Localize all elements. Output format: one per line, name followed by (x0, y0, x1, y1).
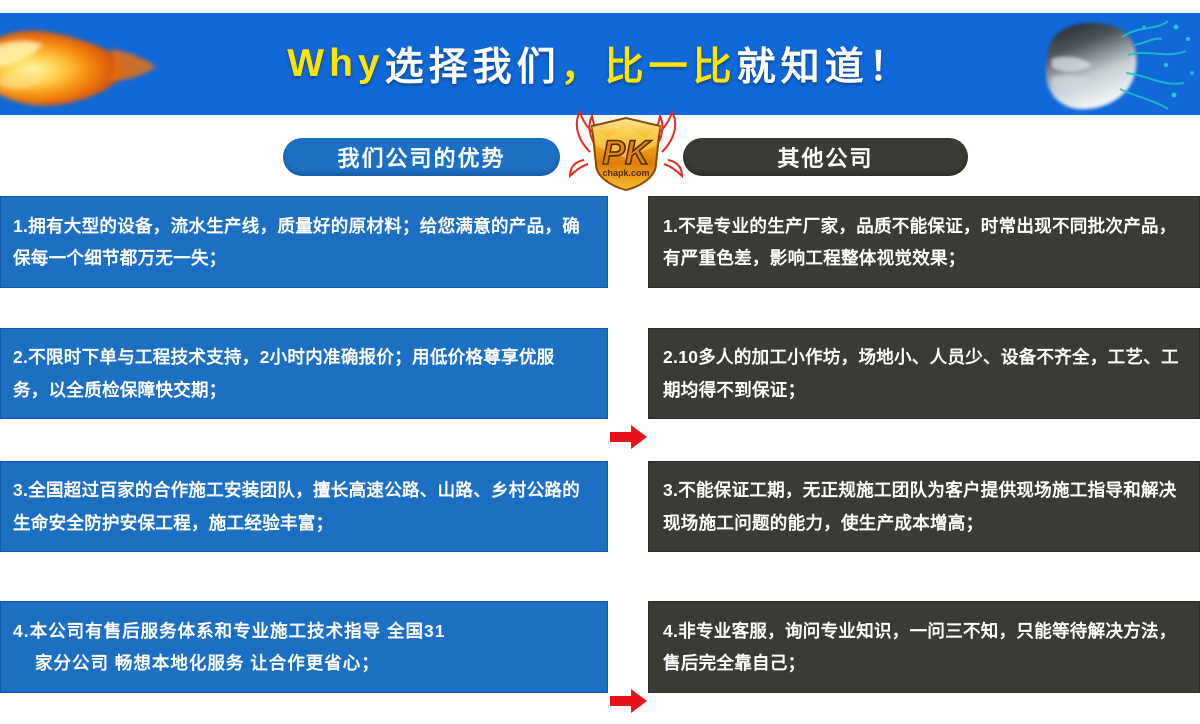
title-part-know: 就知道！ (737, 36, 913, 92)
row-4-ours-panel: 4.本公司有售后服务体系和专业施工技术指导 全国31 家分公司 畅想本地化服务 … (0, 601, 608, 693)
row-4-ours-text: 4.本公司有售后服务体系和专业施工技术指导 全国31 家分公司 畅想本地化服务 … (13, 615, 445, 680)
row-3-ours-text: 3.全国超过百家的合作施工安装团队，擅长高速公路、山路、乡村公路的生命安全防护安… (13, 474, 589, 539)
row-4-other-text: 4.非专业客服，询问专业知识，一问三不知，只能等待解决方法，售后完全靠自己； (663, 615, 1185, 680)
title-part-compare: 比一比 (605, 36, 737, 92)
title-part-choose: 选择我们 (385, 36, 561, 92)
table-row: 2.不限时下单与工程技术支持，2小时内准确报价；用低价格尊享优服务，以全质检保障… (0, 328, 1200, 419)
comparison-infographic-page: Why选择我们，比一比就知道！ 我们公司的优势 其他公司 (0, 0, 1200, 724)
pk-logo-graphic: PK chapk.com (568, 106, 684, 194)
row-2-ours-text: 2.不限时下单与工程技术支持，2小时内准确报价；用低价格尊享优服务，以全质检保障… (13, 341, 589, 406)
row-3-ours-panel: 3.全国超过百家的合作施工安装团队，擅长高速公路、山路、乡村公路的生命安全防护安… (0, 461, 608, 552)
pk-logo-text: PK (602, 134, 652, 172)
row-2-other-text: 2.10多人的加工小作坊，场地小、人员少、设备不齐全，工艺、工期均得不到保证； (663, 341, 1185, 406)
header-banner: Why选择我们，比一比就知道！ (0, 13, 1200, 115)
row-4-ours-line1: 4.本公司有售后服务体系和专业施工技术指导 全国31 (13, 615, 445, 647)
red-right-arrow-icon (610, 424, 648, 450)
row-4-other-panel: 4.非专业客服，询问专业知识，一问三不知，只能等待解决方法，售后完全靠自己； (648, 601, 1200, 693)
row-1-ours-text: 1.拥有大型的设备，流水生产线，质量好的原材料；给您满意的产品，确保每一个细节都… (13, 210, 589, 275)
row-3-other-text: 3.不能保证工期，无正规施工团队为客户提供现场施工指导和解决现场施工问题的能力，… (663, 474, 1185, 539)
title-part-comma: ， (561, 36, 605, 92)
pk-logo: PK chapk.com (568, 106, 684, 194)
title-part-why: Why (287, 42, 384, 86)
table-row: 1.拥有大型的设备，流水生产线，质量好的原材料；给您满意的产品，确保每一个细节都… (0, 196, 1200, 288)
page-title: Why选择我们，比一比就知道！ (0, 13, 1200, 115)
row-3-other-panel: 3.不能保证工期，无正规施工团队为客户提供现场施工指导和解决现场施工问题的能力，… (648, 461, 1200, 552)
row-2-other-panel: 2.10多人的加工小作坊，场地小、人员少、设备不齐全，工艺、工期均得不到保证； (648, 328, 1200, 419)
row-1-ours-panel: 1.拥有大型的设备，流水生产线，质量好的原材料；给您满意的产品，确保每一个细节都… (0, 196, 608, 288)
row-4-ours-line2: 家分公司 畅想本地化服务 让合作更省心； (13, 647, 445, 679)
table-row: 4.本公司有售后服务体系和专业施工技术指导 全国31 家分公司 畅想本地化服务 … (0, 601, 1200, 693)
pk-logo-domain: chapk.com (602, 168, 649, 178)
row-1-other-panel: 1.不是专业的生产厂家，品质不能保证，时常出现不同批次产品，有严重色差，影响工程… (648, 196, 1200, 288)
row-1-other-text: 1.不是专业的生产厂家，品质不能保证，时常出现不同批次产品，有严重色差，影响工程… (663, 210, 1185, 275)
table-row: 3.全国超过百家的合作施工安装团队，擅长高速公路、山路、乡村公路的生命安全防护安… (0, 461, 1200, 552)
row-2-ours-panel: 2.不限时下单与工程技术支持，2小时内准确报价；用低价格尊享优服务，以全质检保障… (0, 328, 608, 419)
